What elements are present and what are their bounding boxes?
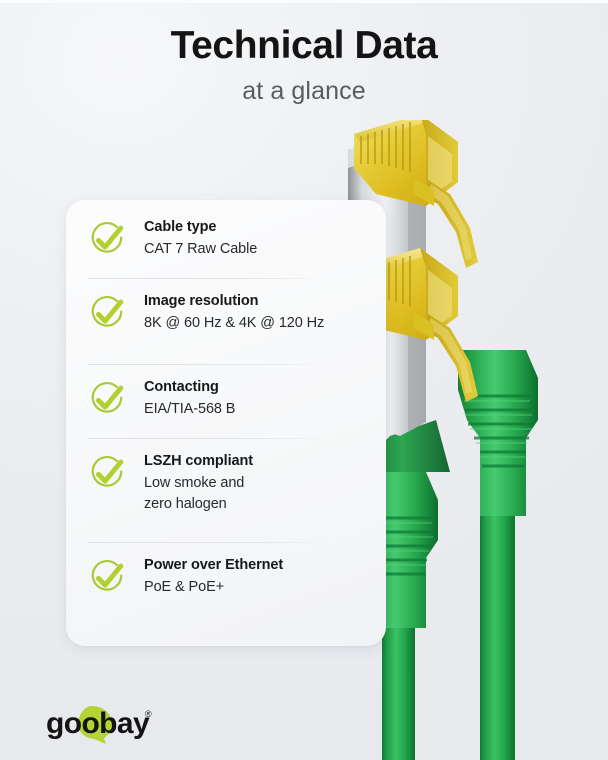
spec-key: Cable type [144,218,257,238]
spec-key: Power over Ethernet [144,556,283,576]
spec-text: Cable typeCAT 7 Raw Cable [144,218,257,259]
brand-name: goobay [46,707,150,740]
spec-row-separator [88,364,328,365]
spec-text: Image resolution8K @ 60 Hz & 4K @ 120 Hz [144,292,324,333]
spec-row-separator [88,278,328,279]
spec-value: EIA/TIA-568 B [144,399,235,420]
check-circle-icon [88,294,126,332]
spec-row-separator [88,438,328,439]
header: Technical Data at a glance [0,24,608,106]
spec-value: 8K @ 60 Hz & 4K @ 120 Hz [144,313,324,334]
infographic-canvas: Technical Data at a glance Cable typeCAT… [0,0,608,760]
registered-mark: ® [145,709,152,719]
spec-value-line2: zero halogen [144,494,253,515]
check-circle-icon [88,454,126,492]
spec-key: Contacting [144,378,235,398]
spec-row: LSZH compliantLow smoke andzero halogen [66,452,267,515]
spec-text: LSZH compliantLow smoke andzero halogen [144,452,253,515]
spec-row: Image resolution8K @ 60 Hz & 4K @ 120 Hz [66,292,338,333]
brand-logo: goobay ® [44,702,156,749]
spec-row: ContactingEIA/TIA-568 B [66,378,249,419]
spec-key: LSZH compliant [144,452,253,472]
spec-card: Cable typeCAT 7 Raw CableImage resolutio… [66,200,386,646]
goobay-logo-icon: goobay ® [44,702,156,744]
spec-text: Power over EthernetPoE & PoE+ [144,556,283,597]
spec-key: Image resolution [144,292,324,312]
spec-row-separator [88,542,328,543]
check-circle-icon [88,558,126,596]
check-circle-icon [88,380,126,418]
spec-row: Power over EthernetPoE & PoE+ [66,556,297,597]
spec-value: CAT 7 Raw Cable [144,239,257,260]
spec-row: Cable typeCAT 7 Raw Cable [66,218,271,259]
spec-value: PoE & PoE+ [144,577,283,598]
spec-text: ContactingEIA/TIA-568 B [144,378,235,419]
page-title: Technical Data [0,24,608,69]
page-subtitle: at a glance [0,77,608,106]
spec-value: Low smoke and [144,473,253,494]
check-circle-icon [88,220,126,258]
